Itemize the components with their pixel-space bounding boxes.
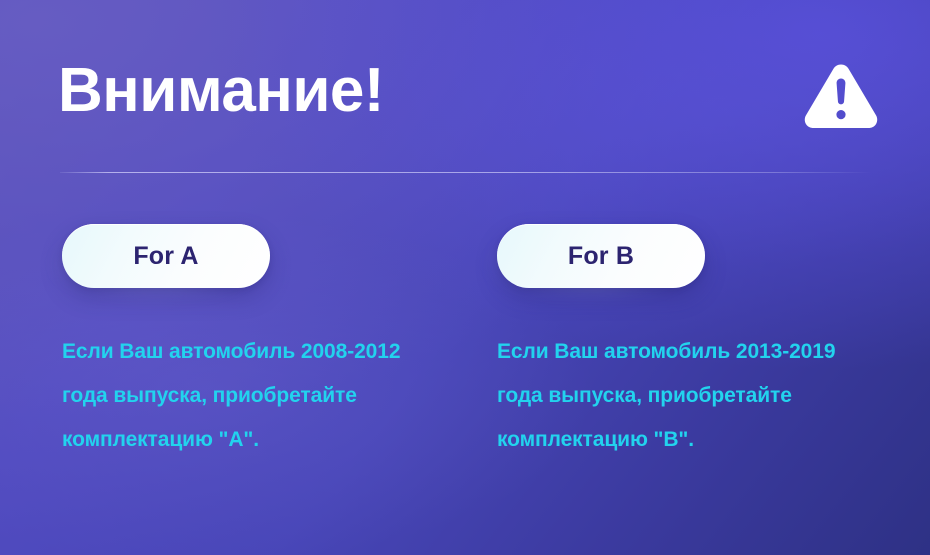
- option-b-line-2: года выпуска, приобретайте: [497, 374, 897, 418]
- option-b-description: Если Ваш автомобиль 2013-2019 года выпус…: [497, 330, 897, 462]
- option-a-line-1: Если Ваш автомобиль 2008-2012: [62, 330, 462, 374]
- option-column-a: For A Если Ваш автомобиль 2008-2012 года…: [52, 214, 472, 278]
- for-a-button[interactable]: For A: [62, 224, 270, 288]
- option-a-line-3: комплектацию "A".: [62, 418, 462, 462]
- for-b-button-wrap: For B: [487, 214, 695, 278]
- attention-banner: Внимание! For A Если Ваш автомобиль 2008…: [0, 0, 930, 555]
- option-a-line-2: года выпуска, приобретайте: [62, 374, 462, 418]
- option-b-line-3: комплектацию "B".: [497, 418, 897, 462]
- header-divider: [60, 172, 872, 173]
- for-a-button-wrap: For A: [52, 214, 260, 278]
- option-column-b: For B Если Ваш автомобиль 2013-2019 года…: [487, 214, 907, 278]
- warning-triangle-icon: [803, 62, 879, 128]
- for-b-button[interactable]: For B: [497, 224, 705, 288]
- option-b-line-1: Если Ваш автомобиль 2013-2019: [497, 330, 897, 374]
- option-a-description: Если Ваш автомобиль 2008-2012 года выпус…: [62, 330, 462, 462]
- page-title: Внимание!: [58, 55, 384, 127]
